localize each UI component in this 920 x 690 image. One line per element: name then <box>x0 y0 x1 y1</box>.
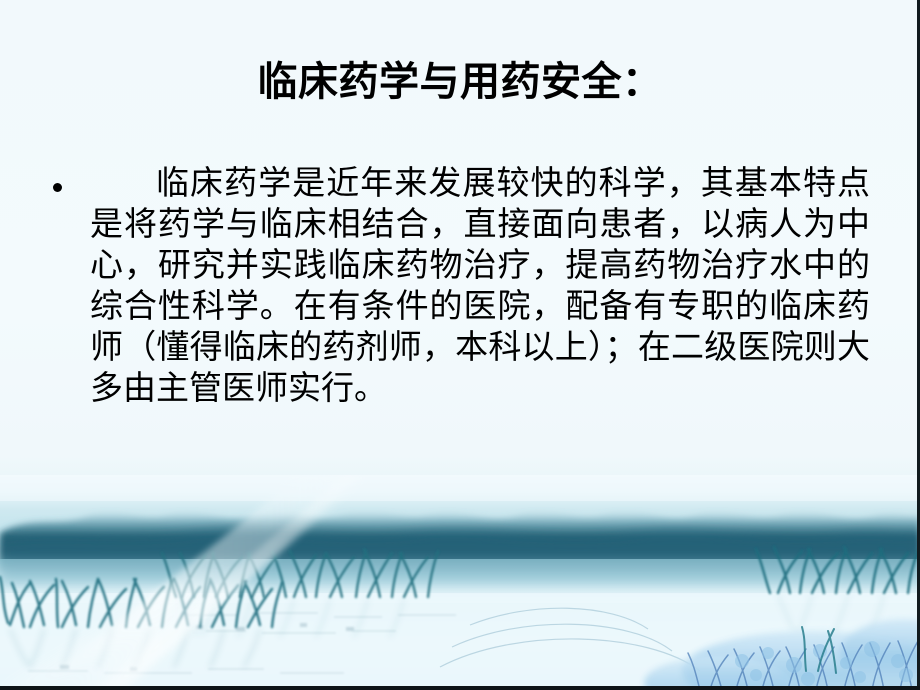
bullet-list: 临床药学是近年来发展较快的科学，其基本特点是将药学与临床相结合，直接面向患者，以… <box>44 162 870 408</box>
slide-bottom-border <box>0 686 920 690</box>
bullet-item-text: 临床药学是近年来发展较快的科学，其基本特点是将药学与临床相结合，直接面向患者，以… <box>90 162 870 408</box>
slide-title: 临床药学与用药安全： <box>0 58 920 106</box>
bullet-dot-icon <box>53 183 62 192</box>
lakeside-watercolor-image <box>0 475 920 690</box>
slide-canvas: 临床药学与用药安全： 临床药学是近年来发展较快的科学，其基本特点是将药学与临床相… <box>0 0 920 690</box>
